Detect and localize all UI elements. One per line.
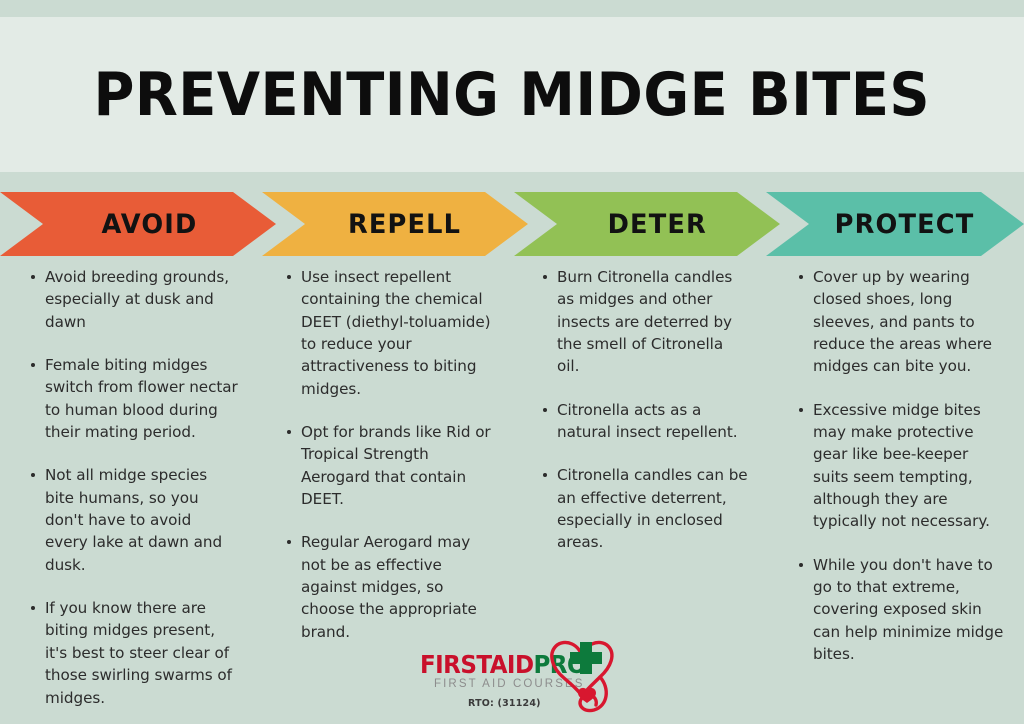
category-chevron-row: AVOID REPELL DETER PROTECT — [0, 192, 1024, 256]
logo-word-firstaid: FIRSTAID — [420, 650, 533, 679]
list-item: Avoid breeding grounds, especially at du… — [30, 266, 238, 333]
chevron-label-deter: DETER — [607, 209, 706, 240]
chevron-protect[interactable]: PROTECT — [766, 192, 1024, 256]
column-protect: Cover up by wearing closed shoes, long s… — [768, 266, 1024, 626]
list-item: Regular Aerogard may not be as effective… — [286, 531, 494, 643]
list-item: Female biting midges switch from flower … — [30, 354, 238, 443]
list-item: Excessive midge bites may make protectiv… — [798, 399, 1006, 533]
column-avoid: Avoid breeding grounds, especially at du… — [0, 266, 256, 626]
infographic-poster: PREVENTING MIDGE BITES AVOID REPELL DETE… — [0, 0, 1024, 724]
bullet-list-deter: Burn Citronella candles as midges and ot… — [542, 266, 750, 554]
list-item: Citronella candles can be an effective d… — [542, 464, 750, 553]
list-item: Citronella acts as a natural insect repe… — [542, 399, 750, 444]
chevron-repell[interactable]: REPELL — [262, 192, 528, 256]
logo-rto-number: RTO: (31124) — [468, 698, 541, 709]
list-item: Opt for brands like Rid or Tropical Stre… — [286, 421, 494, 510]
bullet-list-avoid: Avoid breeding grounds, especially at du… — [30, 266, 238, 709]
bullet-list-repell: Use insect repellent containing the chem… — [286, 266, 494, 643]
title-band: PREVENTING MIDGE BITES — [0, 17, 1024, 172]
list-item: If you know there are biting midges pres… — [30, 597, 238, 709]
page-title: PREVENTING MIDGE BITES — [94, 60, 931, 130]
chevron-label-repell: REPELL — [348, 209, 461, 240]
bullet-list-protect: Cover up by wearing closed shoes, long s… — [798, 266, 1006, 666]
list-item: While you don't have to go to that extre… — [798, 554, 1006, 666]
content-columns: Avoid breeding grounds, especially at du… — [0, 266, 1024, 626]
chevron-label-avoid: AVOID — [101, 209, 197, 240]
brand-logo: FIRSTAIDPRO FIRST AID COURSES RTO: (3112… — [408, 636, 623, 714]
column-repell: Use insect repellent containing the chem… — [256, 266, 512, 626]
chevron-deter[interactable]: DETER — [514, 192, 780, 256]
list-item: Cover up by wearing closed shoes, long s… — [798, 266, 1006, 378]
heart-stethoscope-icon — [538, 626, 628, 718]
list-item: Burn Citronella candles as midges and ot… — [542, 266, 750, 378]
column-deter: Burn Citronella candles as midges and ot… — [512, 266, 768, 626]
list-item: Not all midge species bite humans, so yo… — [30, 464, 238, 576]
chevron-label-protect: PROTECT — [835, 209, 975, 240]
list-item: Use insect repellent containing the chem… — [286, 266, 494, 400]
chevron-avoid[interactable]: AVOID — [0, 192, 276, 256]
